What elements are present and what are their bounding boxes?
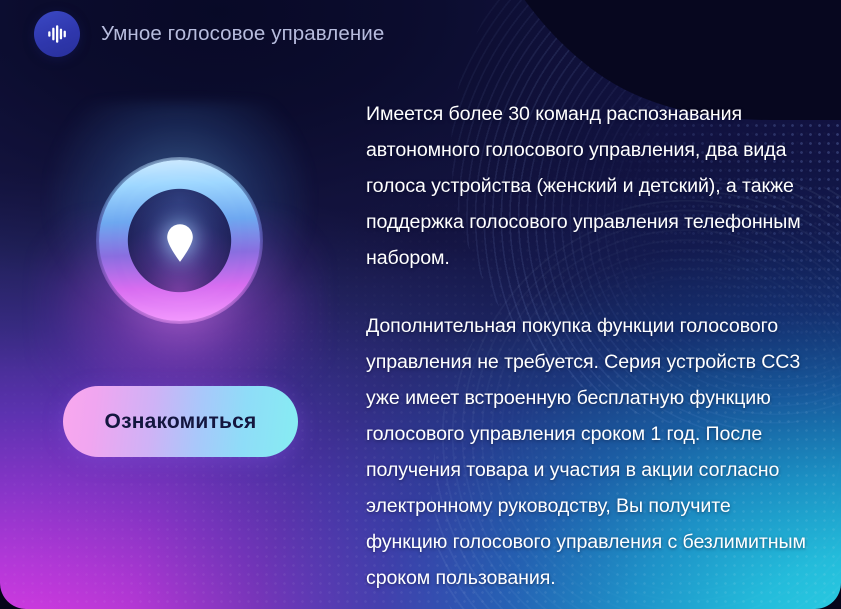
- description-column: Имеется более 30 команд распознавания ав…: [366, 96, 812, 596]
- voice-waveform-icon: [34, 11, 80, 57]
- voice-control-promo-card: Умное голосовое управление Ознакомиться …: [0, 0, 841, 609]
- droplet-pin-icon: [164, 222, 196, 262]
- card-header: Умное голосовое управление: [0, 0, 841, 68]
- card-panel: Умное голосовое управление Ознакомиться …: [0, 0, 841, 609]
- learn-more-button[interactable]: Ознакомиться: [63, 386, 298, 457]
- hero-visual-column: Ознакомиться: [0, 68, 360, 609]
- voice-assistant-orb-icon[interactable]: [99, 160, 260, 321]
- page-title: Умное голосовое управление: [101, 22, 384, 46]
- description-paragraph-2: Дополнительная покупка функции голосовог…: [366, 308, 812, 596]
- description-paragraph-1: Имеется более 30 команд распознавания ав…: [366, 96, 812, 276]
